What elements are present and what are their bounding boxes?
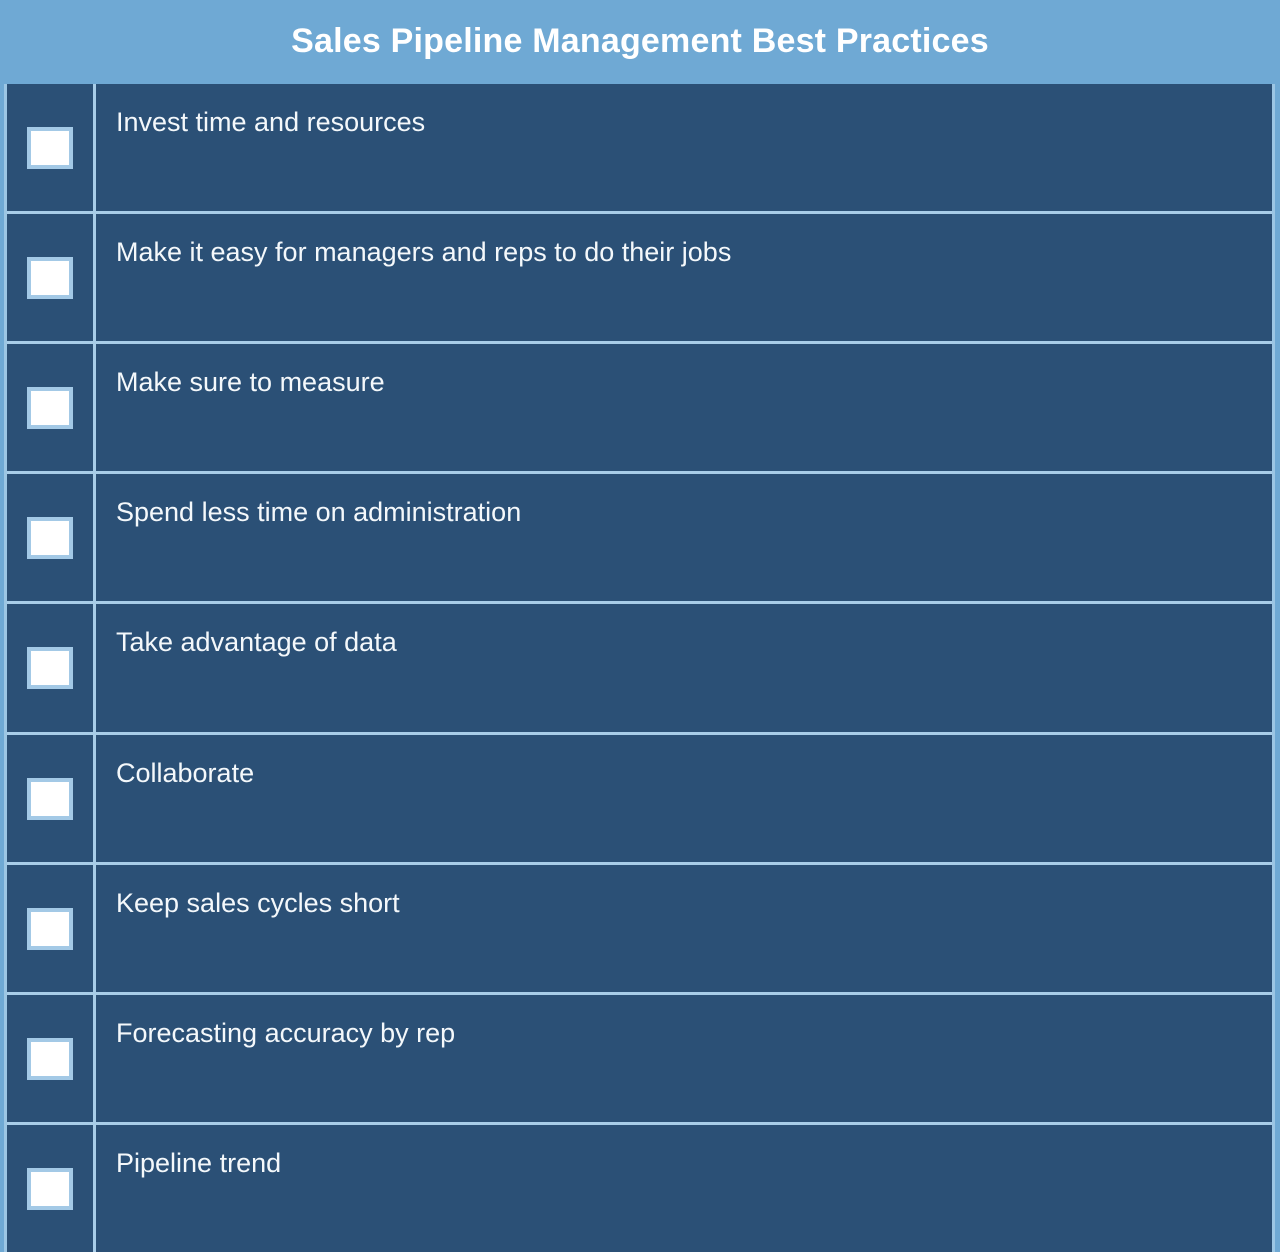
empty-checkbox-icon[interactable] <box>27 257 73 299</box>
checklist-item-label: Keep sales cycles short <box>116 888 400 918</box>
label-cell: Invest time and resources <box>96 84 1272 211</box>
checklist-item-label: Take advantage of data <box>116 627 397 657</box>
empty-checkbox-icon[interactable] <box>27 647 73 689</box>
label-cell: Keep sales cycles short <box>96 865 1272 992</box>
empty-checkbox-icon[interactable] <box>27 1168 73 1210</box>
checkbox-cell[interactable] <box>7 474 96 601</box>
checklist-row[interactable]: Make it easy for managers and reps to do… <box>7 214 1272 344</box>
label-cell: Forecasting accuracy by rep <box>96 995 1272 1122</box>
empty-checkbox-icon[interactable] <box>27 127 73 169</box>
checklist-item-label: Collaborate <box>116 758 254 788</box>
checklist-item-label: Invest time and resources <box>116 107 425 137</box>
label-cell: Collaborate <box>96 735 1272 862</box>
checkbox-cell[interactable] <box>7 84 96 211</box>
checklist-row[interactable]: Pipeline trend <box>7 1125 1272 1252</box>
checklist-row[interactable]: Make sure to measure <box>7 344 1272 474</box>
app-header: Sales Pipeline Management Best Practices <box>0 0 1280 84</box>
checklist-row[interactable]: Spend less time on administration <box>7 474 1272 604</box>
checklist-row[interactable]: Keep sales cycles short <box>7 865 1272 995</box>
checklist-item-label: Forecasting accuracy by rep <box>116 1018 455 1048</box>
label-cell: Take advantage of data <box>96 604 1272 731</box>
checkbox-cell[interactable] <box>7 1125 96 1252</box>
label-cell: Spend less time on administration <box>96 474 1272 601</box>
label-cell: Make it easy for managers and reps to do… <box>96 214 1272 341</box>
checkbox-cell[interactable] <box>7 995 96 1122</box>
checklist-app: Sales Pipeline Management Best Practices… <box>0 0 1280 1252</box>
checkbox-cell[interactable] <box>7 604 96 731</box>
checkbox-cell[interactable] <box>7 735 96 862</box>
label-cell: Pipeline trend <box>96 1125 1272 1252</box>
empty-checkbox-icon[interactable] <box>27 517 73 559</box>
empty-checkbox-icon[interactable] <box>27 908 73 950</box>
page-title: Sales Pipeline Management Best Practices <box>291 23 989 60</box>
checklist-row[interactable]: Invest time and resources <box>7 84 1272 214</box>
checklist-item-label: Spend less time on administration <box>116 497 521 527</box>
checkbox-cell[interactable] <box>7 865 96 992</box>
label-cell: Make sure to measure <box>96 344 1272 471</box>
checklist-item-label: Make sure to measure <box>116 367 385 397</box>
checkbox-cell[interactable] <box>7 214 96 341</box>
checkbox-cell[interactable] <box>7 344 96 471</box>
empty-checkbox-icon[interactable] <box>27 778 73 820</box>
checklist-row[interactable]: Forecasting accuracy by rep <box>7 995 1272 1125</box>
empty-checkbox-icon[interactable] <box>27 387 73 429</box>
checklist-row[interactable]: Take advantage of data <box>7 604 1272 734</box>
checklist-item-label: Make it easy for managers and reps to do… <box>116 237 731 267</box>
checklist-row[interactable]: Collaborate <box>7 735 1272 865</box>
checklist-item-label: Pipeline trend <box>116 1148 281 1178</box>
checklist-table: Invest time and resources Make it easy f… <box>4 84 1275 1252</box>
empty-checkbox-icon[interactable] <box>27 1038 73 1080</box>
